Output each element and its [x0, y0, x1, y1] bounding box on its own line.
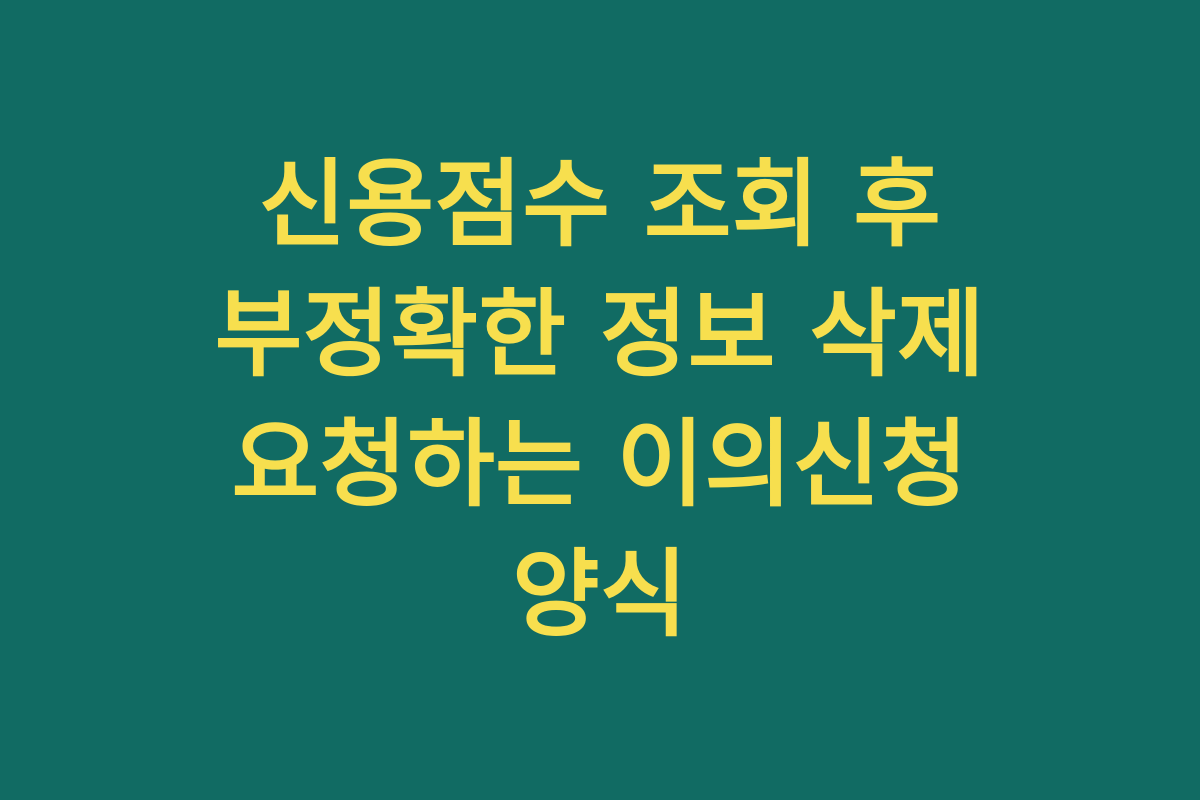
page-title: 신용점수 조회 후 부정확한 정보 삭제 요청하는 이의신청 양식	[128, 140, 1073, 660]
banner-canvas: 신용점수 조회 후 부정확한 정보 삭제 요청하는 이의신청 양식	[0, 0, 1200, 800]
